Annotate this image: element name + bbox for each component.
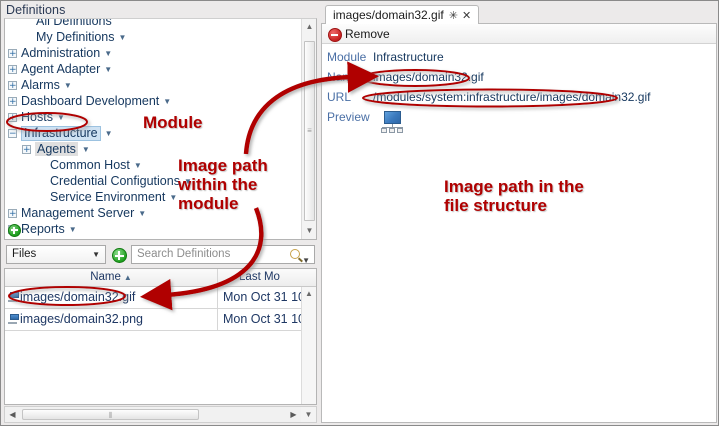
table-row[interactable]: images/domain32.gifMon Oct 31 10: <box>5 287 301 309</box>
tree-item-label: Agents <box>35 142 78 156</box>
chevron-down-icon[interactable]: ▼ <box>64 78 72 94</box>
cell-name-label: images/domain32.png <box>20 312 143 326</box>
tree-item-infrastructure[interactable]: −Infrastructure▼ <box>5 125 301 141</box>
add-definition-icon[interactable] <box>8 224 21 237</box>
definitions-tree-container: All DefinitionsMy Definitions▼+Administr… <box>4 18 317 240</box>
editor-toolbar: Remove <box>322 24 716 44</box>
tree-item-dashboard-development[interactable]: +Dashboard Development▼ <box>5 93 301 109</box>
tree-item-agents[interactable]: +Agents▼ <box>5 141 301 157</box>
chevron-down-icon[interactable]: ▼ <box>119 30 127 46</box>
cell-name: images/domain32.png <box>5 309 218 330</box>
chevron-down-icon[interactable]: ▼ <box>69 222 77 238</box>
expander-plus-icon[interactable]: + <box>8 113 17 122</box>
properties-form: PreviewURL/modules/system:infrastructure… <box>322 44 716 422</box>
tree-item-label: Reports <box>21 222 65 236</box>
cell-last-modified: Mon Oct 31 10: <box>218 287 301 308</box>
tree-item-hosts[interactable]: +Hosts▼ <box>5 109 301 125</box>
chevron-down-icon[interactable]: ▼ <box>104 62 112 78</box>
remove-button-label: Remove <box>345 27 390 41</box>
scroll-right-icon[interactable]: ▶ <box>287 408 300 421</box>
filter-type-select[interactable]: Files ▼ <box>6 245 106 264</box>
search-placeholder: Search Definitions <box>137 248 230 260</box>
definitions-panel: Definitions All DefinitionsMy Definition… <box>3 3 318 423</box>
scroll-down-icon[interactable]: ▼ <box>302 223 317 239</box>
chevron-down-icon[interactable]: ▼ <box>163 94 171 110</box>
tree-item-credential-configutions[interactable]: Credential Configutions▼ <box>5 173 301 189</box>
column-header-name-label: Name <box>90 271 121 283</box>
expander-plus-icon[interactable]: + <box>22 145 31 154</box>
tree-item-all-definitions[interactable]: All Definitions <box>5 18 301 29</box>
chevron-down-icon[interactable]: ▼ <box>104 46 112 62</box>
tree-item-label: Service Environment <box>50 190 165 204</box>
close-icon[interactable]: ✕ <box>462 10 471 22</box>
hscrollbar-thumb[interactable]: ⦀ <box>22 409 199 420</box>
expander-plus-icon[interactable]: + <box>8 49 17 58</box>
expander-plus-icon[interactable]: + <box>8 65 17 74</box>
tree-item-label: Dashboard Development <box>21 94 159 108</box>
tree-item-label: My Definitions <box>36 30 115 44</box>
field-label: URL <box>327 89 373 105</box>
column-header-lastmodified-label: Last Mo <box>239 271 280 283</box>
grid-scroll-up-icon[interactable]: ▲ <box>302 287 316 301</box>
cell-name: images/domain32.gif <box>5 287 218 308</box>
chevron-down-icon[interactable]: ▼ <box>184 174 192 190</box>
grid-header-row: Name▲ Last Mo <box>5 269 316 287</box>
tree-item-label: Agent Adapter <box>21 62 100 76</box>
field-name: Nameimages/domain32.gif <box>327 69 484 85</box>
page-title: Definitions <box>6 3 65 17</box>
editor-panel: images/domain32.gif✳✕ Remove PreviewURL/… <box>321 3 717 423</box>
sort-ascending-icon: ▲ <box>124 273 132 282</box>
cell-name-label: images/domain32.gif <box>20 290 135 304</box>
tree-item-label: Infrastructure <box>21 126 101 141</box>
expander-minus-icon[interactable]: − <box>8 129 17 138</box>
network-domain-icon <box>379 111 405 133</box>
remove-circle-icon <box>328 28 342 42</box>
editor-body: Remove PreviewURL/modules/system:infrast… <box>321 24 717 423</box>
definitions-tree[interactable]: All DefinitionsMy Definitions▼+Administr… <box>5 18 301 240</box>
field-preview: Preview <box>327 109 373 125</box>
field-url: URL/modules/system:infrastructure/images… <box>327 89 650 105</box>
chevron-down-icon[interactable]: ▼ <box>138 206 146 222</box>
tree-item-label: All Definitions <box>36 18 112 28</box>
search-toolbar: Files ▼ Search Definitions ▼ <box>4 244 317 266</box>
chevron-down-icon[interactable]: ▼ <box>134 158 142 174</box>
tree-item-label: Alarms <box>21 78 60 92</box>
tree-item-my-definitions[interactable]: My Definitions▼ <box>5 29 301 45</box>
expander-plus-icon[interactable]: + <box>8 209 17 218</box>
grid-vertical-scrollbar[interactable]: ▲ <box>301 287 316 404</box>
column-header-lastmodified[interactable]: Last Mo <box>218 269 301 286</box>
scrollbar-grip-icon: ≡ <box>307 127 312 134</box>
image-file-icon <box>8 292 19 302</box>
table-row[interactable]: images/domain32.pngMon Oct 31 10: <box>5 309 301 331</box>
column-header-name[interactable]: Name▲ <box>5 269 218 286</box>
tree-vertical-scrollbar[interactable]: ▲ ≡ ▼ <box>301 19 316 239</box>
chevron-down-icon[interactable]: ▼ <box>73 238 81 240</box>
chevron-down-icon[interactable]: ▼ <box>105 126 113 142</box>
scroll-up-icon[interactable]: ▲ <box>302 19 317 35</box>
field-value[interactable]: Infrastructure <box>373 50 444 64</box>
tree-item-reports[interactable]: +Reports▼ <box>5 221 301 237</box>
tree-item-services[interactable]: +Services▼ <box>5 237 301 240</box>
tab-label: images/domain32.gif <box>333 8 444 22</box>
expander-plus-icon[interactable]: + <box>8 97 17 106</box>
chevron-down-icon[interactable]: ▼ <box>82 142 90 158</box>
search-options-chevron-icon[interactable]: ▼ <box>302 252 310 269</box>
scroll-left-icon[interactable]: ◀ <box>6 408 19 421</box>
cell-last-modified: Mon Oct 31 10: <box>218 309 301 330</box>
tree-item-service-environment[interactable]: Service Environment▼ <box>5 189 301 205</box>
field-label: Name <box>327 69 373 85</box>
tree-item-label: Management Server <box>21 206 134 220</box>
field-value[interactable]: /modules/system:infrastructure/images/do… <box>373 90 650 104</box>
tree-item-administration[interactable]: +Administration▼ <box>5 45 301 61</box>
scroll-corner-icon[interactable]: ▼ <box>301 407 316 422</box>
chevron-down-icon[interactable]: ▼ <box>92 246 100 263</box>
field-label: Preview <box>327 109 373 125</box>
search-icon[interactable] <box>290 249 300 259</box>
hscrollbar-grip-icon: ⦀ <box>108 411 112 421</box>
horizontal-scrollbar[interactable]: ◀ ⦀ ▶ ▼ <box>4 406 317 423</box>
tree-item-agent-adapter[interactable]: +Agent Adapter▼ <box>5 61 301 77</box>
filter-type-value: Files <box>12 248 36 260</box>
tree-item-label: Services <box>21 238 69 240</box>
remove-button[interactable]: Remove <box>328 26 390 42</box>
chevron-down-icon[interactable]: ▼ <box>169 190 177 206</box>
chevron-down-icon[interactable]: ▼ <box>57 110 65 126</box>
scrollbar-thumb[interactable]: ≡ <box>304 41 315 221</box>
application-window: Definitions All DefinitionsMy Definition… <box>0 0 719 426</box>
tree-item-alarms[interactable]: +Alarms▼ <box>5 77 301 93</box>
pin-icon[interactable]: ✳ <box>449 10 458 22</box>
tree-item-label: Common Host <box>50 158 130 172</box>
expander-plus-icon[interactable]: + <box>8 81 17 90</box>
tab-images-domain32-gif[interactable]: images/domain32.gif✳✕ <box>325 5 479 24</box>
tree-item-management-server[interactable]: +Management Server▼ <box>5 205 301 221</box>
tab-strip: images/domain32.gif✳✕ <box>321 3 717 24</box>
files-grid: Name▲ Last Mo images/domain32.gifMon Oct… <box>4 268 317 405</box>
tree-item-label: Credential Configutions <box>50 174 180 188</box>
field-label: Module <box>327 49 373 65</box>
field-value[interactable]: images/domain32.gif <box>373 70 484 84</box>
add-file-button[interactable] <box>112 248 127 263</box>
tree-item-common-host[interactable]: Common Host▼ <box>5 157 301 173</box>
tree-item-label: Hosts <box>21 110 53 124</box>
tree-item-label: Administration <box>21 46 100 60</box>
image-file-icon <box>8 314 19 324</box>
field-module: ModuleInfrastructure <box>327 49 444 65</box>
search-input[interactable]: Search Definitions ▼ <box>131 245 315 264</box>
